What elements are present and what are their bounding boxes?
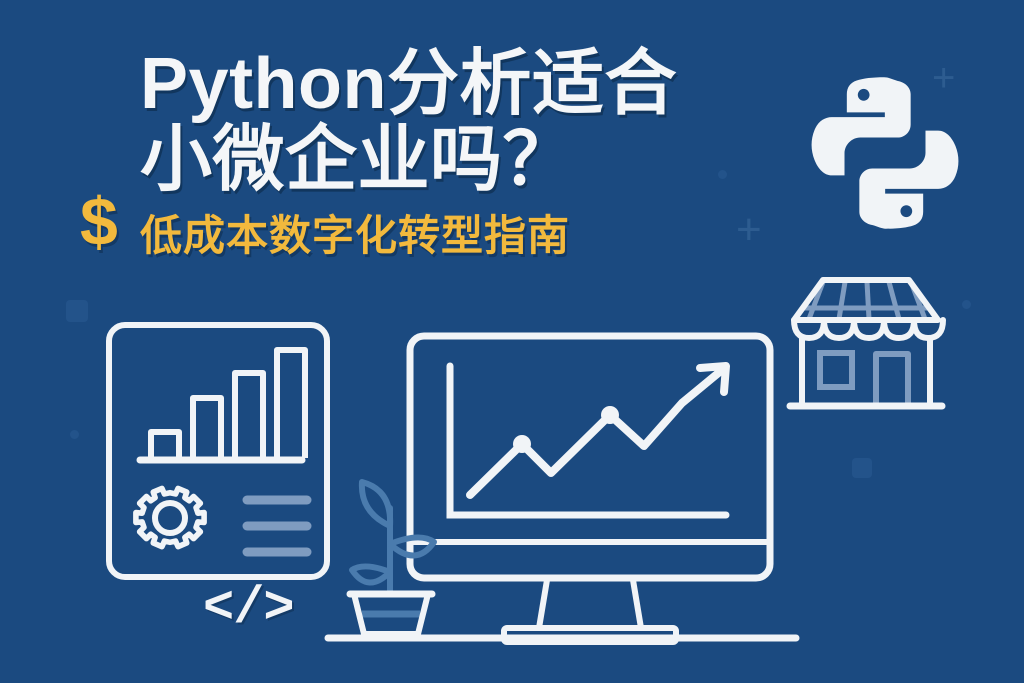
square-decoration [852, 458, 872, 478]
trend-line [470, 370, 722, 495]
potted-plant-icon [336, 468, 444, 640]
monitor-icon [404, 330, 776, 650]
storefront-icon [778, 262, 954, 422]
code-symbol-icon: </> [203, 583, 294, 635]
dot-decoration [962, 300, 971, 309]
square-decoration [66, 300, 88, 322]
ground-line [322, 628, 802, 648]
title-line-1: Python分析适合 [140, 46, 820, 122]
subtitle: 低成本数字化转型指南 [140, 213, 820, 259]
poster-canvas: + + Python分析适合 小微企业吗？ 低成本数字化转型指南 $ [0, 0, 1024, 683]
dashboard-card-icon [104, 320, 332, 582]
dollar-sign-icon: $ [80, 188, 118, 256]
title-line-2: 小微企业吗？ [140, 122, 820, 198]
headline-block: Python分析适合 小微企业吗？ 低成本数字化转型指南 [140, 46, 820, 259]
data-point-marker [601, 406, 619, 424]
text-lines-group [247, 500, 307, 552]
plant-leaves [352, 482, 434, 594]
python-logo-icon [800, 68, 970, 238]
bar-chart-group [151, 350, 305, 458]
dot-decoration [70, 430, 79, 439]
gear-icon [136, 488, 204, 546]
data-point-marker [513, 435, 531, 453]
